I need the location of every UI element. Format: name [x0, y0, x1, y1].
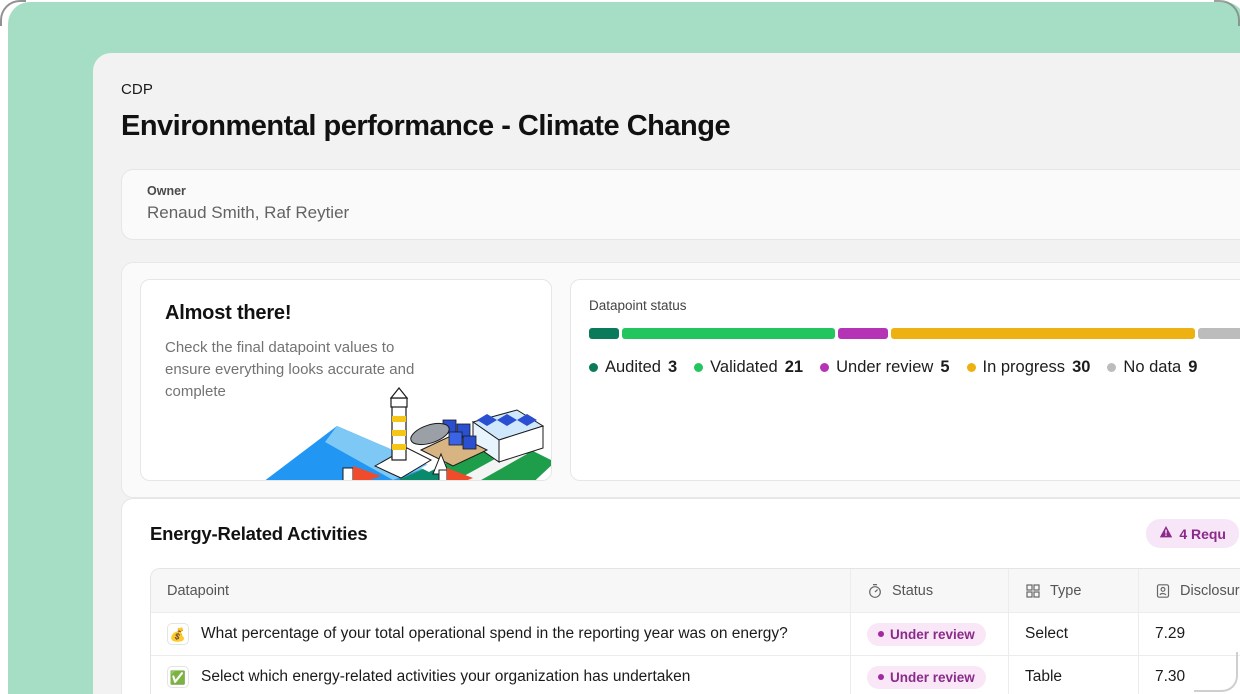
status-dot-icon [878, 674, 884, 680]
owner-label: Owner [147, 184, 1233, 198]
legend-label: Validated [710, 358, 778, 377]
status-badge-label: Under review [890, 627, 975, 642]
status-segment-in-progress [891, 328, 1195, 339]
table-body: 💰What percentage of your total operation… [151, 612, 1240, 694]
cell-type[interactable]: Select [1009, 613, 1139, 655]
required-badge[interactable]: 4 Requ [1146, 519, 1239, 548]
money-bag-icon: 💰 [167, 623, 189, 645]
id-badge-icon [1155, 583, 1171, 599]
legend-dot-icon [694, 363, 703, 372]
legend-label: No data [1123, 358, 1181, 377]
cell-disclosure[interactable]: 7.30 [1139, 656, 1240, 694]
window-corner-top-right [1214, 0, 1240, 26]
almost-there-card: Almost there! Check the final datapoint … [140, 279, 552, 481]
datapoint-status-legend: Audited3Validated21Under review5In progr… [589, 358, 1240, 377]
almost-there-title: Almost there! [165, 302, 527, 325]
required-badge-text: 4 Requ [1179, 526, 1226, 542]
legend-dot-icon [820, 363, 829, 372]
stopwatch-icon [867, 583, 883, 599]
cell-datapoint[interactable]: ✅Select which energy-related activities … [151, 656, 851, 694]
legend-item-in-progress: In progress30 [967, 358, 1091, 377]
screenshot-viewport: CDP Environmental performance - Climate … [0, 0, 1240, 694]
legend-item-validated: Validated21 [694, 358, 803, 377]
datapoint-text: Select which energy-related activities y… [201, 668, 690, 686]
owner-card[interactable]: Owner Renaud Smith, Raf Reytier [121, 169, 1240, 240]
column-header-datapoint-label: Datapoint [167, 583, 229, 599]
status-badge-label: Under review [890, 670, 975, 685]
legend-item-audited: Audited3 [589, 358, 677, 377]
column-header-disclosure[interactable]: Disclosure I [1139, 569, 1240, 612]
status-segment-audited [589, 328, 619, 339]
breadcrumb[interactable]: CDP [121, 81, 1240, 98]
legend-count: 9 [1188, 358, 1197, 377]
app-panel: CDP Environmental performance - Climate … [93, 53, 1240, 694]
datapoint-status-card: Datapoint status Audited3Validated21Unde… [570, 279, 1240, 481]
warning-triangle-icon [1159, 525, 1173, 542]
status-dot-icon [878, 631, 884, 637]
column-header-disclosure-label: Disclosure I [1180, 583, 1240, 599]
column-header-status-label: Status [892, 583, 933, 599]
status-badge[interactable]: Under review [867, 666, 986, 689]
legend-count: 3 [668, 358, 677, 377]
disclosure-value: 7.29 [1155, 625, 1185, 643]
legend-dot-icon [1107, 363, 1116, 372]
cell-disclosure[interactable]: 7.29 [1139, 613, 1240, 655]
cell-type[interactable]: Table [1009, 656, 1139, 694]
legend-label: In progress [983, 358, 1066, 377]
legend-count: 21 [785, 358, 803, 377]
grid-squares-icon [1025, 583, 1041, 599]
status-badge[interactable]: Under review [867, 623, 986, 646]
disclosure-value: 7.30 [1155, 668, 1185, 686]
table-row[interactable]: ✅Select which energy-related activities … [151, 655, 1240, 694]
status-segment-validated [622, 328, 834, 339]
column-header-status[interactable]: Status [851, 569, 1009, 612]
page-title: Environmental performance - Climate Chan… [121, 110, 1240, 143]
datapoints-table: Datapoint Status Type [150, 568, 1240, 694]
cell-status[interactable]: Under review [851, 656, 1009, 694]
datapoint-status-bar [589, 328, 1240, 339]
green-check-icon: ✅ [167, 666, 189, 688]
cell-datapoint[interactable]: 💰What percentage of your total operation… [151, 613, 851, 655]
status-segment-no-data [1198, 328, 1240, 339]
summary-section: Almost there! Check the final datapoint … [121, 262, 1240, 498]
legend-label: Audited [605, 358, 661, 377]
legend-dot-icon [589, 363, 598, 372]
energy-activities-card: Energy-Related Activities 4 Requ Datapoi… [121, 498, 1240, 694]
datapoint-text: What percentage of your total operationa… [201, 625, 788, 643]
column-header-type[interactable]: Type [1009, 569, 1139, 612]
legend-dot-icon [967, 363, 976, 372]
status-segment-under-review [838, 328, 889, 339]
type-value: Table [1025, 668, 1062, 686]
owner-value[interactable]: Renaud Smith, Raf Reytier [147, 203, 1233, 223]
legend-item-under-review: Under review5 [820, 358, 949, 377]
island-lighthouse-illustration [225, 370, 552, 481]
window-corner-top-left [0, 0, 26, 26]
legend-count: 30 [1072, 358, 1090, 377]
legend-label: Under review [836, 358, 933, 377]
column-header-type-label: Type [1050, 583, 1081, 599]
table-section-title: Energy-Related Activities [150, 523, 367, 545]
column-header-datapoint[interactable]: Datapoint [151, 569, 851, 612]
table-row[interactable]: 💰What percentage of your total operation… [151, 612, 1240, 655]
table-header-row: Datapoint Status Type [151, 569, 1240, 612]
legend-item-no-data: No data9 [1107, 358, 1197, 377]
cell-status[interactable]: Under review [851, 613, 1009, 655]
legend-count: 5 [940, 358, 949, 377]
datapoint-status-title: Datapoint status [589, 298, 1240, 313]
type-value: Select [1025, 625, 1068, 643]
